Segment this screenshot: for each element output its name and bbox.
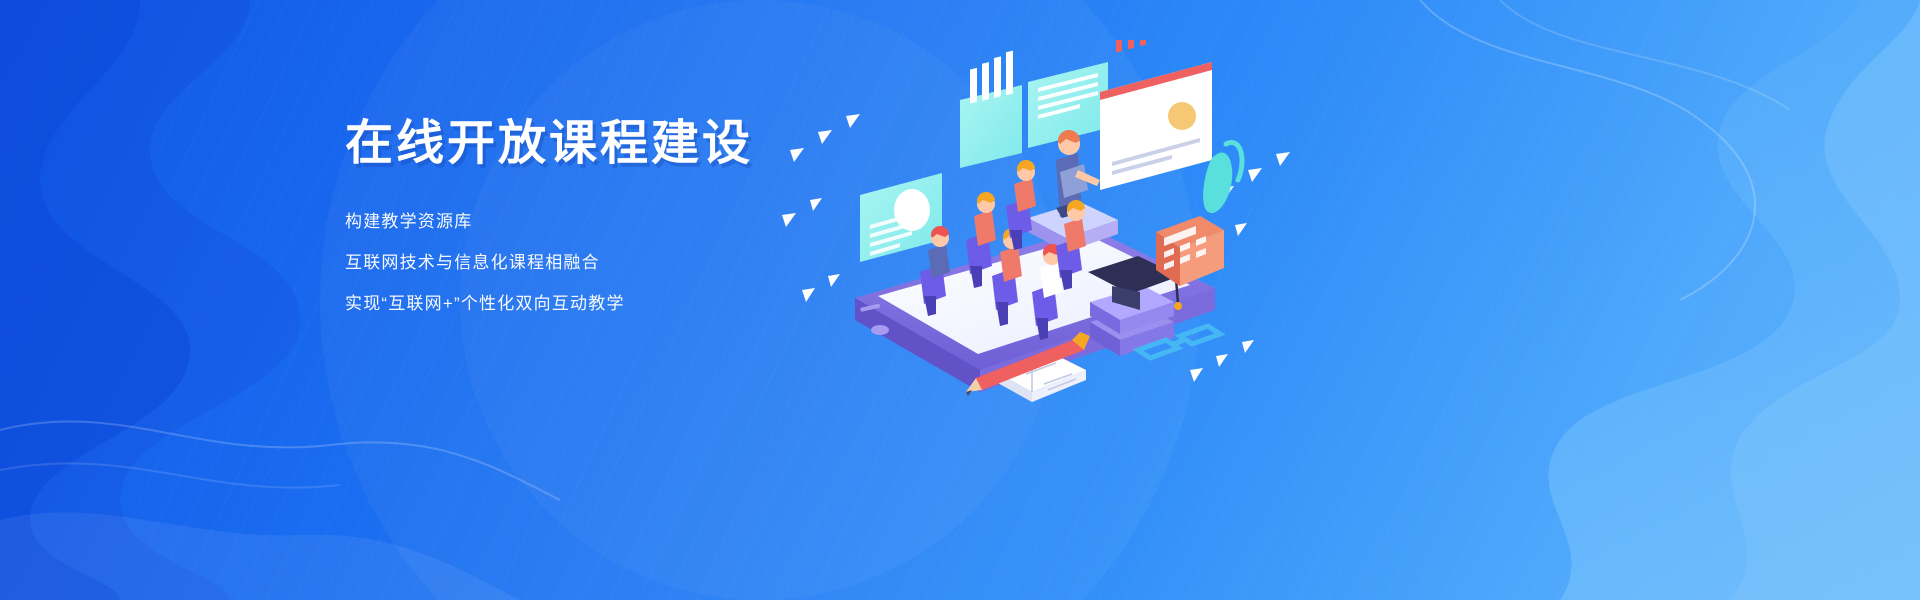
screen-bar-chart [960, 51, 1022, 168]
student-figure [1006, 160, 1036, 250]
calculator-icon [1156, 216, 1224, 286]
wave-line-top-right [1420, 0, 1755, 300]
screen-pie-chart-board [1100, 40, 1212, 190]
screen-video [860, 173, 942, 262]
illustration-svg [760, 40, 1320, 460]
illustration-online-classroom [760, 40, 1320, 440]
flying-triangles-left [782, 114, 860, 302]
hero-banner: 在线开放课程建设 构建教学资源库 互联网技术与信息化课程相融合 实现“互联网+”… [0, 0, 1920, 600]
